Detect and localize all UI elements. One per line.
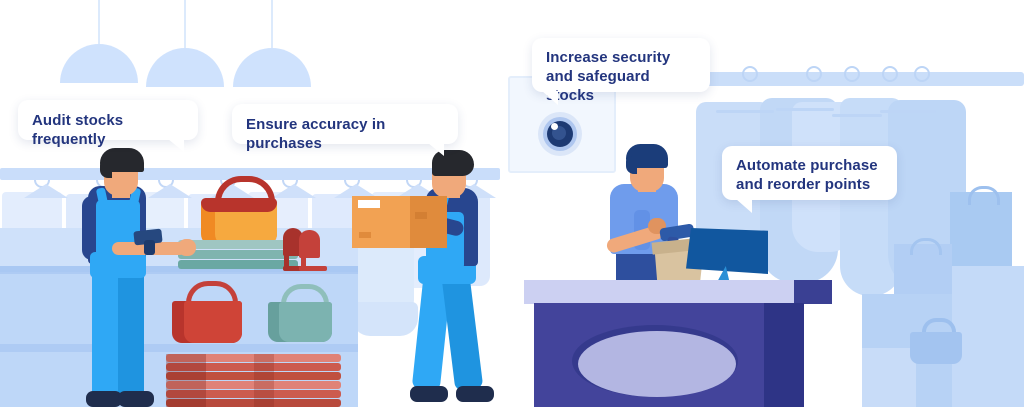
heel-sole <box>299 266 327 271</box>
teal-handbag <box>268 284 334 342</box>
red-high-heels <box>283 228 329 270</box>
rack-hanger <box>882 66 898 82</box>
callout-line: and safeguard stocks <box>546 67 696 105</box>
clerk-hip <box>90 252 146 278</box>
bag-handle <box>910 238 942 255</box>
rack-hanger-bar <box>776 108 834 111</box>
cardboard-box <box>352 196 447 248</box>
handbag-silhouette <box>910 318 962 364</box>
shelf-board <box>0 344 358 352</box>
lamp-2-dome <box>146 48 224 87</box>
lamp-1-dome <box>60 44 138 83</box>
counter-top <box>524 280 794 304</box>
clerk-hand <box>178 239 196 256</box>
shopping-bag <box>952 266 1024 407</box>
lamp-3-cord <box>271 0 273 48</box>
camera-lens-glint <box>551 123 558 130</box>
folded-item <box>178 250 298 259</box>
clerk-shoe <box>118 391 154 407</box>
callout-audit-stocks[interactable]: Audit stocks frequently <box>18 100 198 140</box>
monitor-screen <box>686 228 768 274</box>
red-folded-clothes-stack <box>166 354 341 407</box>
handbag-body-light <box>184 301 242 343</box>
delivery-shoe <box>410 386 448 402</box>
callout-line: Audit stocks frequently <box>32 111 184 149</box>
folded-item <box>178 260 298 269</box>
callout-tail <box>428 143 444 156</box>
callout-line: Automate purchase <box>736 156 883 175</box>
bag-handle <box>968 186 1000 205</box>
delivery-leg-front <box>441 267 484 392</box>
callout-increase-security[interactable]: Increase security and safeguard stocks <box>532 38 710 92</box>
barcode-scanner-grip <box>144 240 155 255</box>
counter-top-right <box>794 280 832 304</box>
box-tape <box>359 232 371 238</box>
handbag-flap <box>201 198 277 212</box>
folded-shadow <box>254 354 274 407</box>
rack-hanger <box>914 66 930 82</box>
clerk-hair-side <box>100 160 112 178</box>
heel-shoe <box>299 230 320 258</box>
delivery-clerk <box>404 150 504 407</box>
rack-hanger <box>844 66 860 82</box>
rack-hanger-bar <box>880 110 936 113</box>
counter-oval <box>578 331 736 397</box>
callout-ensure-accuracy[interactable]: Ensure accuracy in purchases <box>232 104 458 144</box>
box-side <box>410 196 447 248</box>
shopping-bag <box>862 348 916 407</box>
teal-folded-clothes <box>178 240 298 270</box>
delivery-shoe <box>456 386 494 402</box>
orange-handbag <box>199 176 279 246</box>
callout-line: and reorder points <box>736 175 883 194</box>
rack-hanger-bar <box>832 114 882 117</box>
callout-line: Ensure accuracy in purchases <box>246 115 444 153</box>
cashier-hair-side <box>626 156 637 174</box>
lamp-1-cord <box>98 0 100 44</box>
box-label <box>358 200 380 208</box>
clerk-leg <box>92 258 118 398</box>
lamp-2-cord <box>184 0 186 48</box>
callout-line: Increase security <box>546 48 696 67</box>
pos-monitor <box>686 228 768 288</box>
cashier-neck <box>638 184 656 192</box>
box-tape <box>415 212 427 219</box>
callout-tail <box>736 199 752 213</box>
stock-clerk <box>78 148 178 407</box>
security-camera <box>538 112 582 156</box>
callout-tail <box>168 139 184 152</box>
callout-tail <box>542 91 558 105</box>
rack-hanger-bar <box>716 110 774 113</box>
clerk-shoe <box>86 391 122 407</box>
rack-hanger <box>806 66 822 82</box>
bag-body <box>910 332 962 364</box>
red-handbag <box>172 281 244 343</box>
clerk-leg <box>118 258 144 398</box>
rack-hanger <box>742 66 758 82</box>
lamp-3-dome <box>233 48 311 87</box>
callout-automate-purchase[interactable]: Automate purchase and reorder points <box>722 146 897 200</box>
counter-side <box>764 303 804 407</box>
illustration-scene: Audit stocks frequently Ensure accuracy … <box>0 0 1024 407</box>
handbag-body-light <box>279 302 332 342</box>
folded-item <box>178 240 298 249</box>
clerk-neck <box>112 188 130 198</box>
